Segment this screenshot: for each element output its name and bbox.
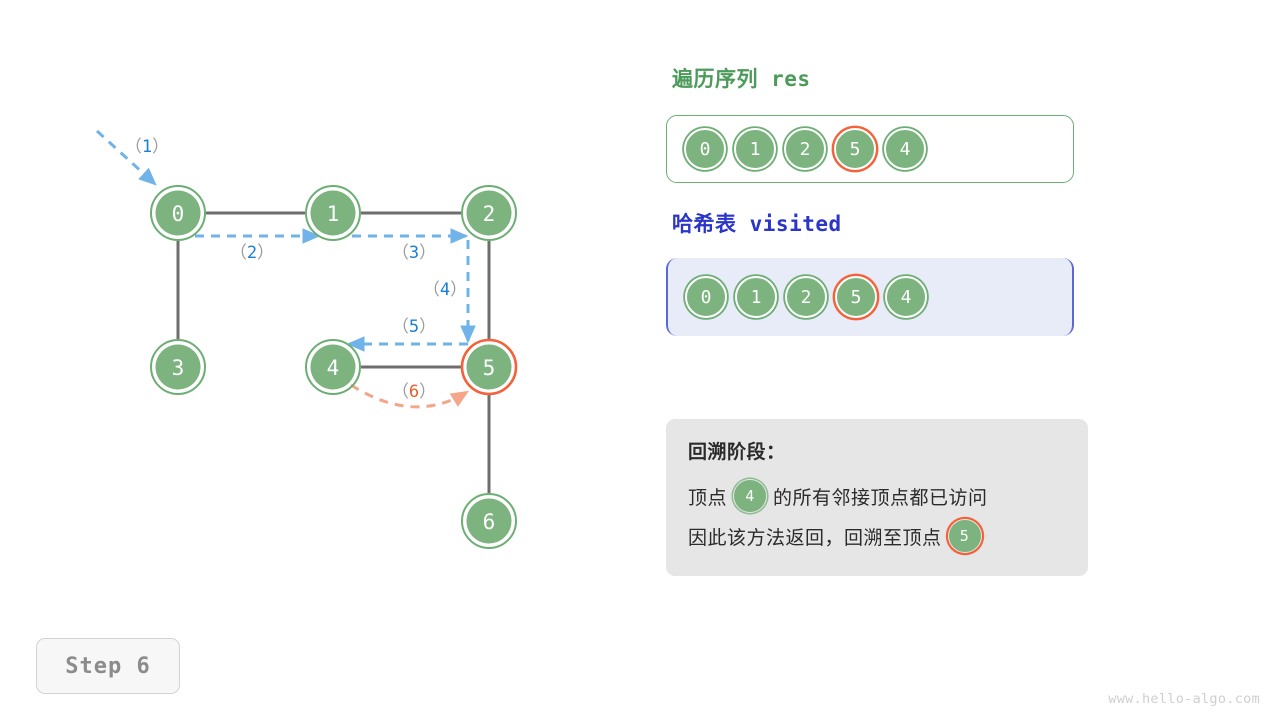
node-label: 2 xyxy=(483,202,496,226)
traversal-arrows xyxy=(97,131,468,344)
res-item-1: 1 xyxy=(734,128,776,170)
info-box-line-2: 因此该方法返回，回溯至顶点 5 xyxy=(688,516,1066,556)
step-badge: Step 6 xyxy=(36,638,180,694)
visited-item-5: 5 xyxy=(835,276,877,318)
step-label-6: （6） xyxy=(392,382,436,402)
node-label: 3 xyxy=(172,356,185,380)
visited-item-0: 0 xyxy=(685,276,727,318)
graph-vertices: 0123456 xyxy=(151,186,516,548)
graph-panel: （1）（2）（3）（4）（5）（6） 0123456 xyxy=(0,0,640,720)
node-label: 4 xyxy=(327,356,340,380)
right-panel: 遍历序列 res 01254 哈希表 visited 01254 回溯阶段： 顶… xyxy=(666,0,1280,720)
graph-node-0: 0 xyxy=(151,186,205,240)
graph-node-6: 6 xyxy=(462,494,516,548)
res-item-4: 4 xyxy=(884,128,926,170)
node-label: 0 xyxy=(172,202,185,226)
visited-item-2: 2 xyxy=(785,276,827,318)
graph-node-5: 5 xyxy=(462,340,516,394)
visited-set-container: 01254 xyxy=(666,258,1074,336)
info-line2-text-before: 因此该方法返回，回溯至顶点 xyxy=(688,523,942,550)
node-label: 6 xyxy=(483,510,496,534)
info-inline-node-5: 5 xyxy=(948,519,982,553)
info-box-line-1: 顶点 4 的所有邻接顶点都已访问 xyxy=(688,476,1066,516)
res-section-title: 遍历序列 res xyxy=(672,63,811,93)
info-line1-text-after: 的所有邻接顶点都已访问 xyxy=(773,483,988,510)
node-label: 5 xyxy=(483,356,496,380)
graph-node-2: 2 xyxy=(462,186,516,240)
info-box: 回溯阶段： 顶点 4 的所有邻接顶点都已访问 因此该方法返回，回溯至顶点 5 xyxy=(666,419,1088,576)
res-item-2: 2 xyxy=(784,128,826,170)
info-inline-node-4: 4 xyxy=(733,479,767,513)
graph-node-4: 4 xyxy=(306,340,360,394)
res-item-0: 0 xyxy=(684,128,726,170)
step-label-4: （4） xyxy=(423,280,467,300)
info-box-heading: 回溯阶段： xyxy=(688,437,1066,464)
node-label: 1 xyxy=(327,202,340,226)
info-line1-text-before: 顶点 xyxy=(688,483,727,510)
res-list-container: 01254 xyxy=(666,115,1074,183)
visited-item-1: 1 xyxy=(735,276,777,318)
step-label-3: （3） xyxy=(392,243,436,263)
step-label-2: （2） xyxy=(230,243,274,263)
graph-node-3: 3 xyxy=(151,340,205,394)
step-label-1: （1） xyxy=(125,137,169,157)
visited-section-title: 哈希表 visited xyxy=(672,208,842,238)
visited-item-4: 4 xyxy=(885,276,927,318)
graph-canvas: （1）（2）（3）（4）（5）（6） 0123456 xyxy=(0,0,640,720)
res-item-5: 5 xyxy=(834,128,876,170)
graph-node-1: 1 xyxy=(306,186,360,240)
step-label-5: （5） xyxy=(392,317,436,337)
